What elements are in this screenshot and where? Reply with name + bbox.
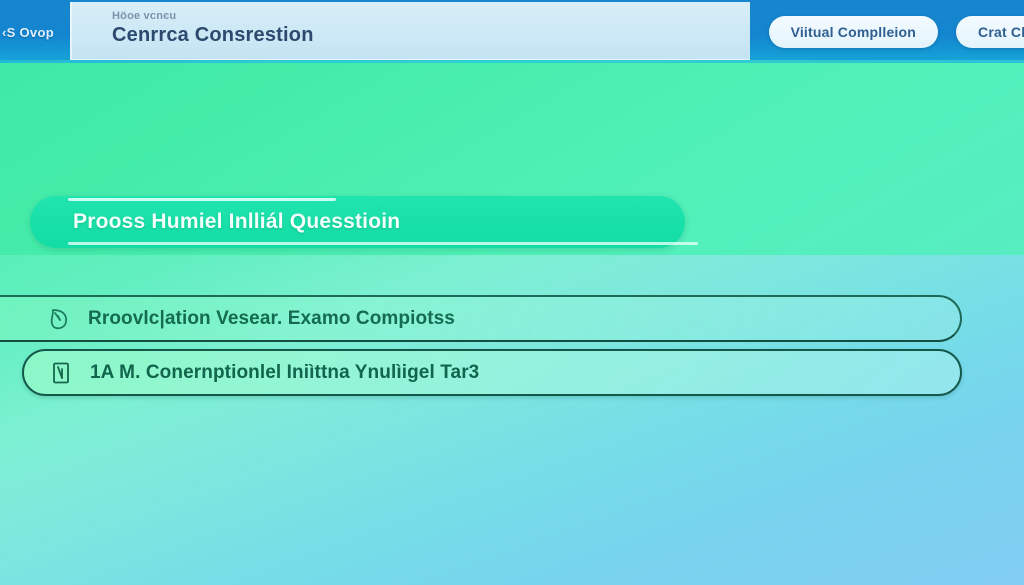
title-panel: Höoe vcnєu Cenrrca Consrestion (70, 2, 750, 60)
top-bar: ‹S Ovop Höoe vcnєu Cenrrca Consrestion V… (0, 0, 1024, 63)
list-item[interactable]: Rroovlc|ation Vesear. Examo Compiotss (0, 295, 962, 342)
app-root: ‹S Ovop Höoe vcnєu Cenrrca Consrestion V… (0, 0, 1024, 585)
brand-badge[interactable]: ‹S Ovop (0, 22, 62, 44)
prompt-pill[interactable]: Prooss Humiel Inlliál Quesstioin (30, 196, 685, 248)
title-eyebrow: Höoe vcnєu (112, 10, 176, 22)
document-icon (48, 360, 74, 386)
virtual-completion-button[interactable]: Viitual Complleion (769, 16, 938, 48)
leaf-icon (46, 306, 72, 332)
list-item-label: Rroovlc|ation Vesear. Examo Compiotss (88, 308, 455, 330)
page-title: Cenrrca Consrestion (112, 24, 314, 47)
list-item-label: 1A M. Conernptionlel Iniìttna Ynulìigel … (90, 362, 479, 384)
prompt-pill-label: Prooss Humiel Inlliál Quesstioin (73, 210, 400, 234)
topbar-actions: Viitual Complleion Crat Ch (769, 0, 1024, 63)
create-chat-button[interactable]: Crat Ch (956, 16, 1024, 48)
list-item[interactable]: 1A M. Conernptionlel Iniìttna Ynulìigel … (22, 349, 962, 396)
